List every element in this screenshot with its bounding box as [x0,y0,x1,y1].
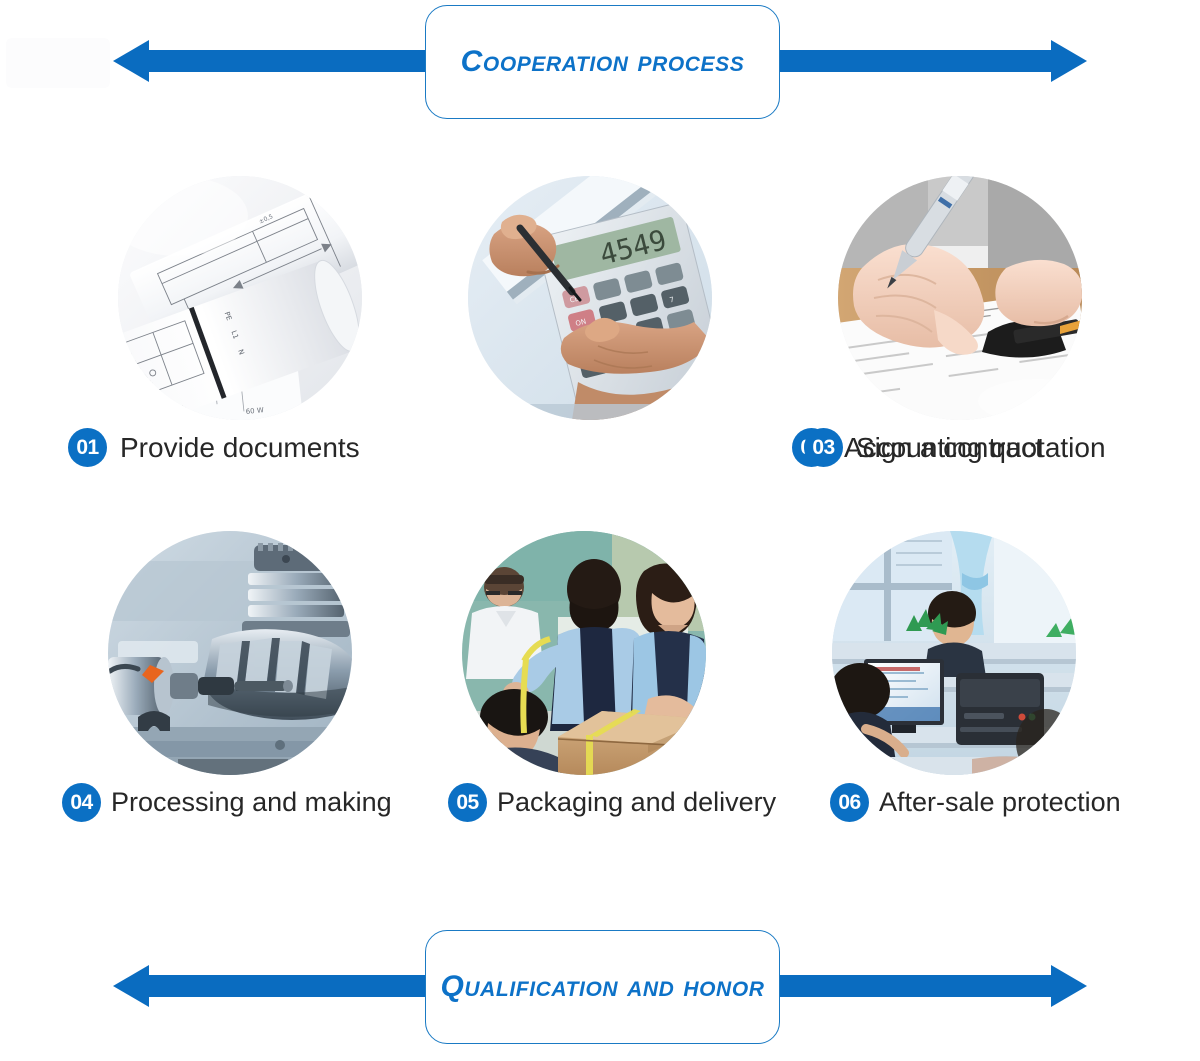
banner-title-cooperation-process: Cooperation process [461,45,745,79]
step-label-03: Sign a contract [856,428,1043,467]
step-badge-05: 05 [448,783,487,822]
office-support-photo [832,531,1076,775]
cooperation-process-page: Cooperation process [0,0,1200,1061]
step-badge-01: 01 [68,428,107,467]
banner-title-qualification-and-honor: Qualification and honor [440,970,764,1004]
arrow-left-icon [113,50,473,72]
step-label-06: After-sale protection [879,783,1121,822]
calculator-hands-photo: 4549 [468,176,712,420]
caption-step-05: 05 Packaging and delivery [448,783,776,822]
caption-step-01: 01 Provide documents [68,428,360,467]
caption-step-03: 03 Sign a contract [804,428,1043,467]
rolled-blueprints-photo: b1 60 W [118,176,362,420]
banner-cooperation-process: Cooperation process [0,0,1200,125]
step-label-04: Processing and making [111,783,392,822]
step-badge-04: 04 [62,783,101,822]
step-badge-06: 06 [830,783,869,822]
signing-contract-photo [838,176,1082,420]
process-steps-row-2: 04 Processing and making [0,531,1200,886]
process-steps-grid: b1 60 W [0,176,1200,886]
packaging-workers-photo [462,531,706,775]
process-steps-row-1: b1 60 W [0,176,1200,531]
step-label-05: Packaging and delivery [497,783,776,822]
cnc-machining-photo [108,531,352,775]
banner-box-cooperation-process: Cooperation process [425,5,780,119]
step-badge-03: 03 [804,428,843,467]
banner-qualification-and-honor: Qualification and honor [0,925,1200,1050]
arrow-right-icon [727,975,1087,997]
caption-step-06: 06 After-sale protection [830,783,1121,822]
arrow-right-icon [727,50,1087,72]
arrow-left-icon [113,975,473,997]
banner-box-qualification-and-honor: Qualification and honor [425,930,780,1044]
step-label-01: Provide documents [120,428,360,467]
caption-step-04: 04 Processing and making [62,783,392,822]
